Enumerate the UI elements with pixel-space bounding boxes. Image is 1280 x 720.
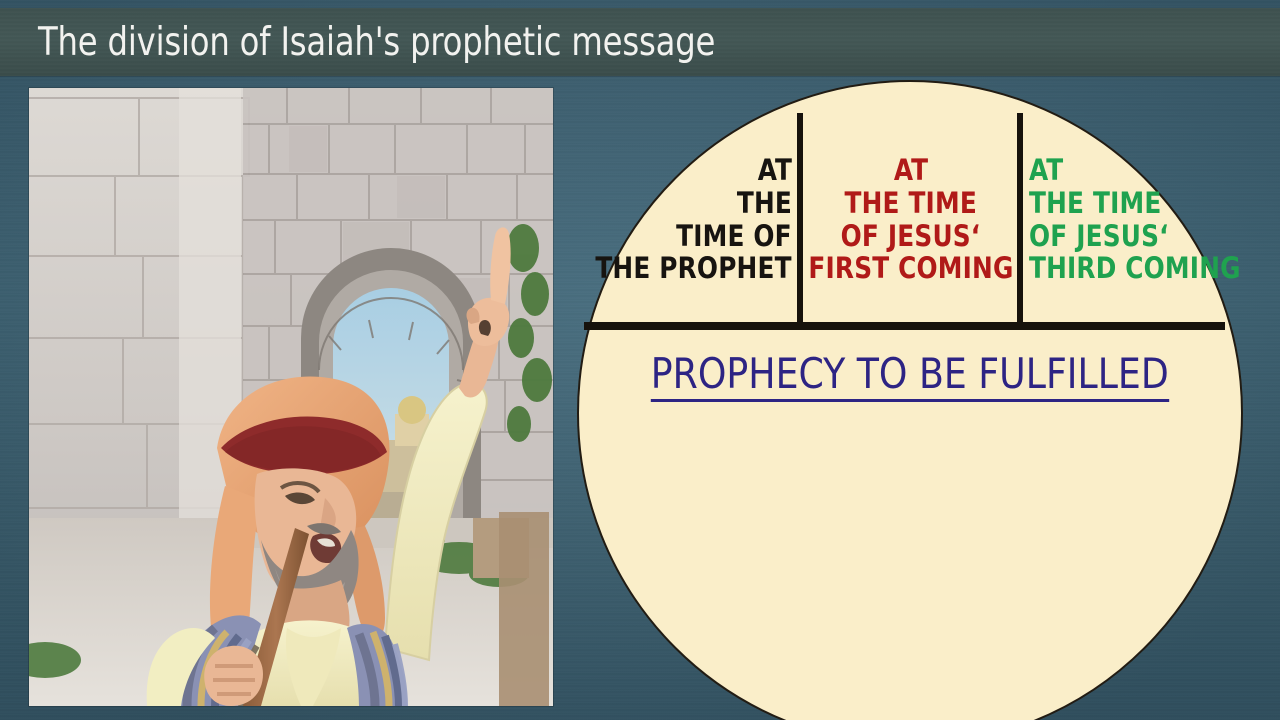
column-line: FIRST COMING: [808, 254, 1013, 284]
page-title: The division of Isaiah's prophetic messa…: [38, 23, 715, 62]
column-line: AT: [894, 156, 928, 186]
column-line: THIRD COMING: [1029, 254, 1241, 284]
prophet-pointing-illustration: [29, 88, 553, 706]
column-divider-second: [1017, 113, 1023, 326]
column-line: AT: [1029, 156, 1063, 186]
column-line: OF JESUS‘: [841, 222, 981, 252]
column-line: THE PROPHET: [596, 254, 792, 284]
illustration-artwork: [29, 88, 553, 706]
column-line: TIME OF: [676, 222, 792, 252]
title-bar: The division of Isaiah's prophetic messa…: [0, 8, 1280, 76]
diagram-columns: AT THE TIME OF THE PROPHET AT THE TIME O…: [577, 112, 1243, 328]
column-divider-first: [797, 113, 803, 326]
prophecy-label-text: PROPHECY TO BE FULFILLED: [651, 352, 1169, 402]
column-line: OF JESUS‘: [1029, 222, 1169, 252]
horizontal-rule: [584, 322, 1225, 330]
column-time-of-the-prophet: AT THE TIME OF THE PROPHET: [577, 112, 792, 328]
column-line: THE: [737, 189, 792, 219]
column-line: THE TIME: [1029, 189, 1161, 219]
column-jesus-third-coming: AT THE TIME OF JESUS‘ THIRD COMING: [1029, 112, 1243, 328]
prophecy-to-be-fulfilled-label: PROPHECY TO BE FULFILLED: [577, 352, 1243, 402]
column-line: AT: [758, 156, 792, 186]
column-line: THE TIME: [845, 189, 977, 219]
column-jesus-first-coming: AT THE TIME OF JESUS‘ FIRST COMING: [805, 112, 1017, 328]
slide-canvas: The division of Isaiah's prophetic messa…: [0, 0, 1280, 720]
